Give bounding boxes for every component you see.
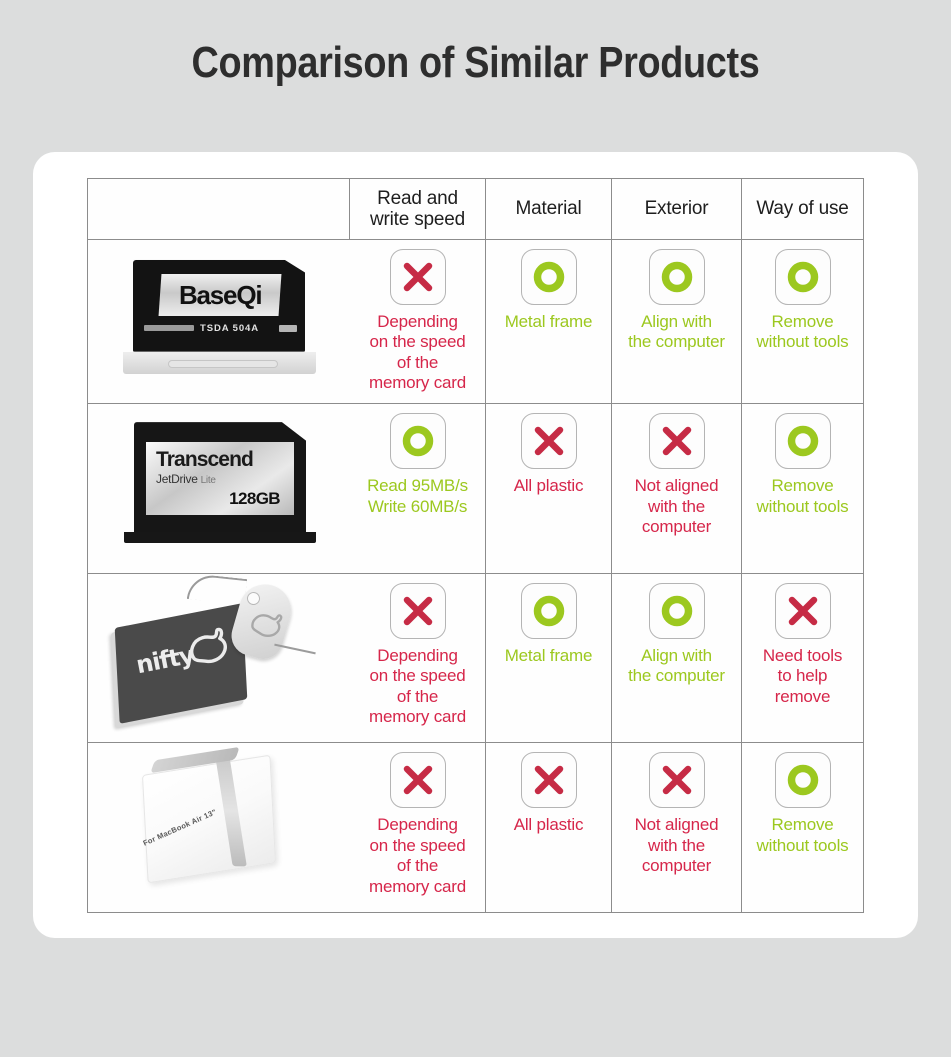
- transcend-capacity-text: 128GB: [229, 490, 280, 508]
- cell-exterior: Not aligned with the computer: [612, 404, 742, 574]
- baseqi-model-text: TSDA 504A: [200, 323, 259, 334]
- cross-icon: [390, 752, 446, 808]
- circle-icon: [775, 249, 831, 305]
- cell-material: Metal frame: [486, 573, 612, 743]
- cell-material: All plastic: [486, 404, 612, 574]
- cell-caption: Not aligned with the computer: [635, 476, 719, 538]
- header-cell-exterior: Exterior: [612, 179, 742, 240]
- baseqi-product-image: BaseQi TSDA 504A: [88, 240, 350, 404]
- cell-caption: Metal frame: [505, 312, 593, 333]
- table-row: For MacBook Air 13": [88, 743, 864, 913]
- cell-exterior: Align with the computer: [612, 239, 742, 404]
- baseqi-slot-right: [279, 325, 297, 332]
- header-label-read-write-speed: Read and write speed: [350, 188, 485, 230]
- header-cell-way-of-use: Way of use: [742, 179, 864, 240]
- circle-icon: [775, 413, 831, 469]
- cross-icon: [521, 752, 577, 808]
- cell-exterior: Not aligned with the computer: [612, 743, 742, 913]
- cell-caption: Align with the computer: [628, 312, 725, 353]
- cell-caption: Not aligned with the computer: [635, 815, 719, 877]
- cell-caption: Remove without tools: [757, 312, 849, 353]
- comparison-table: Read and write speed Material Exterior W…: [87, 178, 864, 913]
- header-cell-material: Material: [486, 179, 612, 240]
- baseqi-label-plate: BaseQi: [159, 274, 282, 316]
- cell-caption: Depending on the speed of the memory car…: [369, 815, 466, 897]
- transcend-foot: [124, 532, 316, 543]
- cell-way-of-use: Remove without tools: [742, 404, 864, 574]
- header-cell-read-write-speed: Read and write speed: [350, 179, 486, 240]
- table-header-row: Read and write speed Material Exterior W…: [88, 179, 864, 240]
- transcend-line-text: JetDrive Lite: [156, 472, 216, 488]
- nifty-wire-upper: [187, 574, 247, 605]
- circle-icon: [521, 583, 577, 639]
- cell-read-write-speed: Depending on the speed of the memory car…: [350, 573, 486, 743]
- transcend-label-plate: Transcend JetDrive Lite 128GB: [146, 442, 294, 515]
- table-row: Transcend JetDrive Lite 128GB: [88, 404, 864, 574]
- cell-read-write-speed: Depending on the speed of the memory car…: [350, 239, 486, 404]
- cell-caption: Depending on the speed of the memory car…: [369, 312, 466, 394]
- cell-caption: All plastic: [514, 476, 584, 497]
- cell-way-of-use: Remove without tools: [742, 239, 864, 404]
- comparison-page: Comparison of Similar Products Read and …: [0, 0, 951, 1057]
- cell-read-write-speed: Depending on the speed of the memory car…: [350, 743, 486, 913]
- circle-icon: [390, 413, 446, 469]
- cell-way-of-use: Need tools to help remove: [742, 573, 864, 743]
- product-cell-transcend: Transcend JetDrive Lite 128GB: [88, 404, 350, 574]
- cell-caption: Metal frame: [505, 646, 593, 667]
- transcend-product-image: Transcend JetDrive Lite 128GB: [88, 404, 350, 573]
- table-row: nifty: [88, 573, 864, 743]
- cell-caption: Need tools to help remove: [763, 646, 842, 708]
- product-cell-baseqi: BaseQi TSDA 504A: [88, 239, 350, 404]
- transcend-brand-text: Transcend: [156, 449, 253, 471]
- comparison-card: Read and write speed Material Exterior W…: [33, 152, 918, 938]
- page-title: Comparison of Similar Products: [67, 38, 885, 88]
- cross-icon: [390, 583, 446, 639]
- header-label-way-of-use: Way of use: [742, 198, 863, 219]
- cell-read-write-speed: Read 95MB/s Write 60MB/s: [350, 404, 486, 574]
- product-cell-white-adapter: For MacBook Air 13": [88, 743, 350, 913]
- cell-caption: Depending on the speed of the memory car…: [369, 646, 466, 728]
- cross-icon: [649, 752, 705, 808]
- cell-exterior: Align with the computer: [612, 573, 742, 743]
- header-label-exterior: Exterior: [612, 198, 741, 219]
- cross-icon: [775, 583, 831, 639]
- baseqi-slot-left: [144, 325, 194, 331]
- white-adapter-product-image: For MacBook Air 13": [88, 743, 350, 912]
- cell-caption: All plastic: [514, 815, 584, 836]
- circle-icon: [775, 752, 831, 808]
- header-label-material: Material: [486, 198, 611, 219]
- cross-icon: [649, 413, 705, 469]
- table-row: BaseQi TSDA 504A: [88, 239, 864, 404]
- cross-icon: [390, 249, 446, 305]
- cell-caption: Remove without tools: [757, 476, 849, 517]
- baseqi-brand-text: BaseQi: [179, 279, 261, 310]
- cell-caption: Align with the computer: [628, 646, 725, 687]
- circle-icon: [649, 583, 705, 639]
- baseqi-notch: [168, 360, 278, 368]
- cross-icon: [521, 413, 577, 469]
- circle-icon: [649, 249, 705, 305]
- header-cell-product: [88, 179, 350, 240]
- cell-caption: Read 95MB/s Write 60MB/s: [367, 476, 468, 517]
- circle-icon: [521, 249, 577, 305]
- cell-way-of-use: Remove without tools: [742, 743, 864, 913]
- cell-caption: Remove without tools: [757, 815, 849, 856]
- cell-material: All plastic: [486, 743, 612, 913]
- product-cell-nifty: nifty: [88, 573, 350, 743]
- cell-material: Metal frame: [486, 239, 612, 404]
- nifty-product-image: nifty: [88, 574, 350, 743]
